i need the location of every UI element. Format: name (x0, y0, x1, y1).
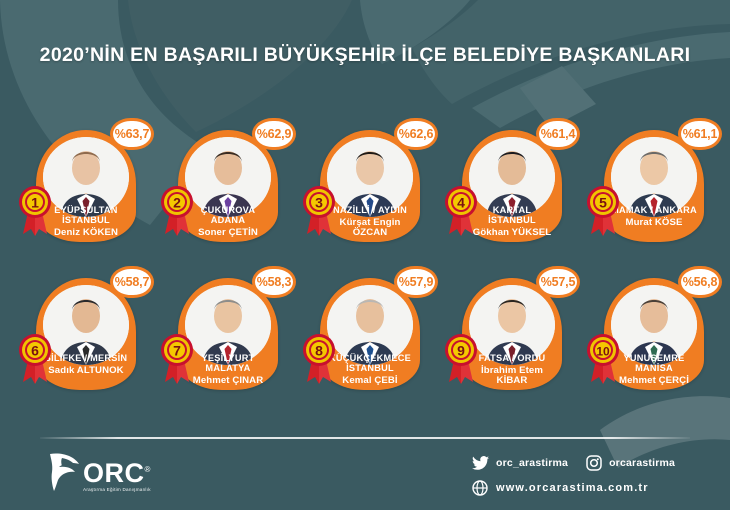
ranking-card-1: %63,7 1 EYÜPSULTAN İSTANBULDeniz KÖKEN (10, 118, 152, 266)
ranking-card-5: %61,1 5 MAMAK / ANKARAMurat KÖSE (578, 118, 720, 266)
ranking-card-4: %61,4 4 KARTAL İSTANBULGökhan YÜKSEL (436, 118, 578, 266)
rank-medal-icon: 10 (583, 330, 623, 386)
orc-logo-wordmark: ORC® (83, 461, 151, 486)
vote-percentage-badge: %57,9 (394, 266, 438, 298)
twitter-handle: orc_arastirma (496, 457, 568, 469)
website-url: www.orcarastima.com.tr (496, 482, 649, 494)
rank-medal-icon: 9 (441, 330, 481, 386)
svg-text:8: 8 (315, 343, 323, 359)
vote-percentage-badge: %63,7 (110, 118, 154, 150)
rank-medal-icon: 7 (157, 330, 197, 386)
svg-text:1: 1 (31, 195, 39, 211)
ranking-card-2: %62,9 2 ÇUKUROVA ADANASoner ÇETİN (152, 118, 294, 266)
rank-medal-icon: 5 (583, 182, 623, 238)
footer-divider (40, 437, 690, 439)
svg-text:3: 3 (315, 195, 323, 211)
vote-percentage-badge: %61,4 (536, 118, 580, 150)
svg-text:4: 4 (457, 195, 465, 211)
vote-percentage-badge: %58,7 (110, 266, 154, 298)
rank-medal-icon: 8 (299, 330, 339, 386)
svg-text:6: 6 (31, 343, 39, 359)
ranking-card-10: %56,8 10 YUNUSEMRE MANİSAMehmet ÇERÇİ (578, 266, 720, 414)
svg-text:7: 7 (173, 343, 181, 359)
instagram-link[interactable]: orcarastirma (586, 455, 675, 471)
vote-percentage-badge: %56,8 (678, 266, 722, 298)
twitter-bird-icon (472, 456, 489, 471)
registered-mark: ® (145, 465, 151, 474)
orc-logo: ORC® Araştırma Eğitim Danışmanlık (48, 450, 151, 492)
rank-medal-icon: 4 (441, 182, 481, 238)
ranking-card-8: %57,9 8 KÜÇÜKÇEKMECE İSTANBULKemal ÇEBİ (294, 266, 436, 414)
orc-logo-tagline: Araştırma Eğitim Danışmanlık (83, 487, 151, 492)
svg-text:5: 5 (599, 195, 607, 211)
vote-percentage-badge: %62,9 (252, 118, 296, 150)
ranking-card-9: %57,5 9 FATSA / ORDUİbrahim Etem KİBAR (436, 266, 578, 414)
vote-percentage-badge: %57,5 (536, 266, 580, 298)
rank-medal-icon: 2 (157, 182, 197, 238)
svg-text:9: 9 (457, 343, 465, 359)
ranking-card-3: %62,6 3 NAZİLLİ / AYDINKürşat Engin ÖZCA… (294, 118, 436, 266)
rank-medal-icon: 3 (299, 182, 339, 238)
orc-leaf-logo-icon (48, 450, 82, 492)
rank-medal-icon: 6 (15, 330, 55, 386)
svg-text:10: 10 (596, 345, 610, 359)
ranking-card-7: %58,3 7 YEŞİLYURT MALATYAMehmet ÇINAR (152, 266, 294, 414)
globe-icon (472, 480, 488, 496)
instagram-handle: orcarastirma (609, 457, 675, 469)
svg-text:2: 2 (173, 195, 181, 211)
page-title-bar: 2020’NİN EN BAŞARILI BÜYÜKŞEHİR İLÇE BEL… (0, 44, 730, 67)
twitter-link[interactable]: orc_arastirma (472, 456, 568, 471)
ranking-grid: %63,7 1 EYÜPSULTAN İSTANBULDeniz KÖKEN %… (10, 118, 722, 414)
ranking-card-6: %58,7 6 SİLİFKE / MERSİNSadık ALTUNOK (10, 266, 152, 414)
rank-medal-icon: 1 (15, 182, 55, 238)
social-links: orc_arastirma orcarastirma www.orcarasti… (472, 455, 675, 496)
vote-percentage-badge: %61,1 (678, 118, 722, 150)
instagram-icon (586, 455, 602, 471)
website-link[interactable]: www.orcarastima.com.tr (472, 480, 649, 496)
vote-percentage-badge: %62,6 (394, 118, 438, 150)
page-title: 2020’NİN EN BAŞARILI BÜYÜKŞEHİR İLÇE BEL… (0, 44, 730, 67)
vote-percentage-badge: %58,3 (252, 266, 296, 298)
